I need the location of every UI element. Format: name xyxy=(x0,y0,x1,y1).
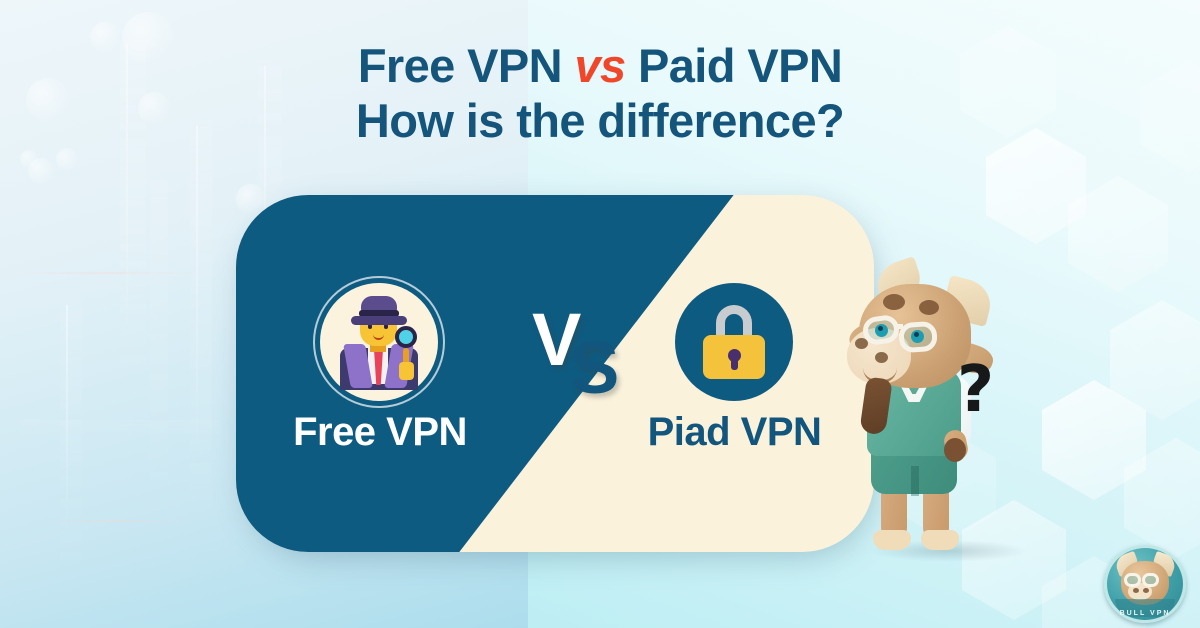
free-vpn-label: Free VPN xyxy=(280,410,480,455)
versus-mark: V S xyxy=(526,303,636,413)
page-title: Free VPN vs Paid VPN How is the differen… xyxy=(0,38,1200,148)
title-paid-vpn: Paid VPN xyxy=(626,39,843,92)
title-vs-word: vs xyxy=(574,39,625,92)
paid-vpn-label: Piad VPN xyxy=(632,410,837,455)
detective-icon xyxy=(333,294,425,390)
logo-glasses-right xyxy=(1142,573,1159,587)
versus-letter-s: S xyxy=(570,331,619,405)
free-vpn-icon-badge xyxy=(320,283,438,401)
title-line-2: How is the difference? xyxy=(0,93,1200,148)
title-free-vpn: Free VPN xyxy=(358,39,575,92)
paid-vpn-icon-badge xyxy=(675,283,793,401)
logo-brand-text: BULL VPN xyxy=(1104,610,1186,617)
padlock-icon xyxy=(703,305,765,379)
logo-glasses-left xyxy=(1124,573,1141,587)
bull-mascot: ? xyxy=(845,252,1060,562)
comparison-card: Free VPN V S Piad VPN xyxy=(236,195,874,552)
banner-canvas: Free VPN vs Paid VPN How is the differen… xyxy=(0,0,1200,628)
brand-logo[interactable]: BULL VPN xyxy=(1104,545,1186,623)
question-mark-icon: ? xyxy=(957,358,994,422)
title-line-1: Free VPN vs Paid VPN xyxy=(358,39,842,92)
